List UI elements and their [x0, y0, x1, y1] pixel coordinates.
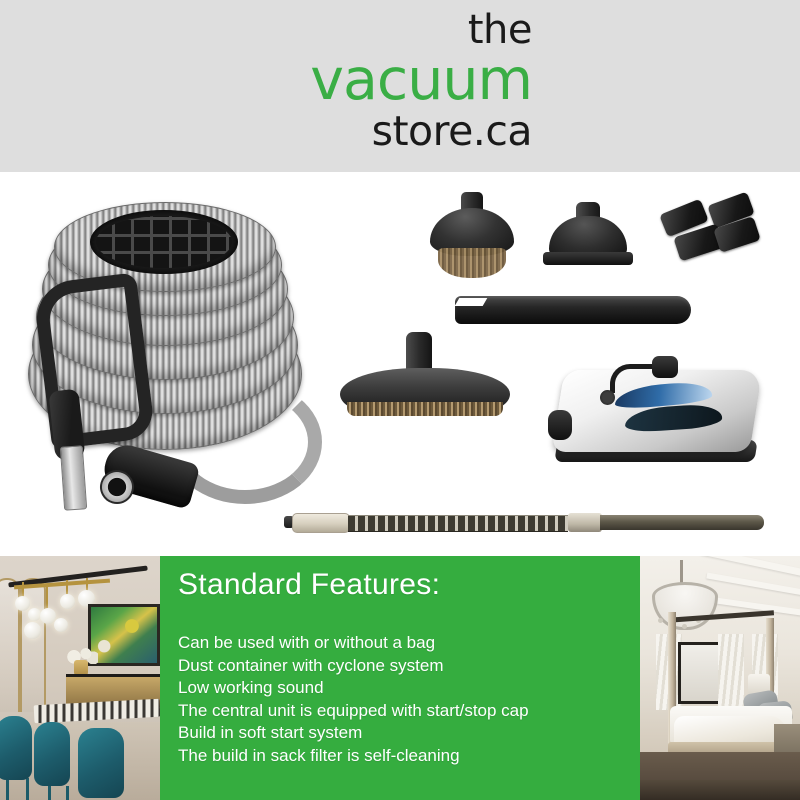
feature-item: Can be used with or without a bag: [178, 632, 529, 655]
pendant-stem: [66, 580, 68, 594]
pendant-globe: [54, 618, 68, 632]
dining-chair: [78, 728, 124, 798]
hose-wand-tip: [60, 445, 87, 510]
dust-brush-tool: [430, 192, 514, 282]
dining-chair: [34, 722, 70, 786]
standard-features-panel: Standard Features: Can be used with or w…: [160, 556, 640, 800]
bedroom-floor: [640, 780, 800, 800]
pendant-globe: [24, 622, 41, 639]
chair-leg: [48, 784, 51, 800]
upholstery-lip: [543, 252, 633, 265]
hose-coil-center: [90, 210, 238, 274]
feature-item: Build in soft start system: [178, 722, 529, 745]
dining-room-artwork: [88, 604, 160, 666]
crevice-tool-notch: [455, 298, 488, 306]
bedroom-photo: [640, 556, 800, 800]
wand-lock-collar: [568, 513, 602, 532]
feature-item: Low working sound: [178, 677, 529, 700]
pendant-globe: [60, 594, 75, 609]
dust-brush-bristles: [438, 248, 506, 278]
power-head-hose-port: [652, 356, 678, 378]
feature-item: Dust container with cyclone system: [178, 655, 529, 678]
wand-collar: [292, 513, 350, 533]
site-logo[interactable]: the vacuum store.ca: [218, 10, 532, 152]
window-curtain: [718, 634, 744, 710]
site-header: the vacuum store.ca: [0, 0, 800, 172]
dining-room-photo: [0, 556, 160, 800]
standard-features-list: Can be used with or without a bag Dust c…: [178, 632, 529, 767]
chandelier-crystal: [682, 624, 687, 629]
standard-features-title: Standard Features:: [178, 568, 440, 602]
hose-coil-center-grid: [96, 216, 232, 268]
feature-item: The central unit is equipped with start/…: [178, 700, 529, 723]
floor-brush-tool: [340, 332, 510, 442]
chair-leg: [66, 786, 69, 800]
chandelier-rod: [680, 560, 683, 584]
telescopic-wand: [292, 508, 764, 536]
product-banner: the vacuum store.ca: [0, 0, 800, 800]
pendant-stem: [46, 584, 48, 610]
crevice-tool-body: [455, 296, 691, 324]
upholstery-tool: [543, 202, 633, 280]
central-vacuum-hose-coil: [18, 194, 318, 494]
floor-brush-bristles: [347, 402, 503, 416]
power-head-switch: [600, 390, 615, 405]
logo-line-vacuum: vacuum: [310, 52, 532, 109]
crevice-tool: [455, 292, 691, 328]
chandelier-crystal: [658, 618, 663, 623]
dining-chair: [0, 716, 32, 780]
power-head-wheel: [548, 410, 572, 440]
logo-line-store: store.ca: [278, 111, 532, 152]
product-image-area: [0, 172, 800, 556]
bottom-strip: Standard Features: Can be used with or w…: [0, 556, 800, 800]
tool-clips: [660, 196, 760, 270]
chair-leg: [26, 778, 29, 800]
logo-line-the: the: [218, 10, 532, 50]
wand-shaft: [600, 515, 764, 530]
wand-notched-section: [348, 515, 568, 532]
feature-item: The build in sack filter is self-cleanin…: [178, 745, 529, 768]
power-head: [548, 354, 768, 474]
pendant-globe: [15, 596, 30, 611]
